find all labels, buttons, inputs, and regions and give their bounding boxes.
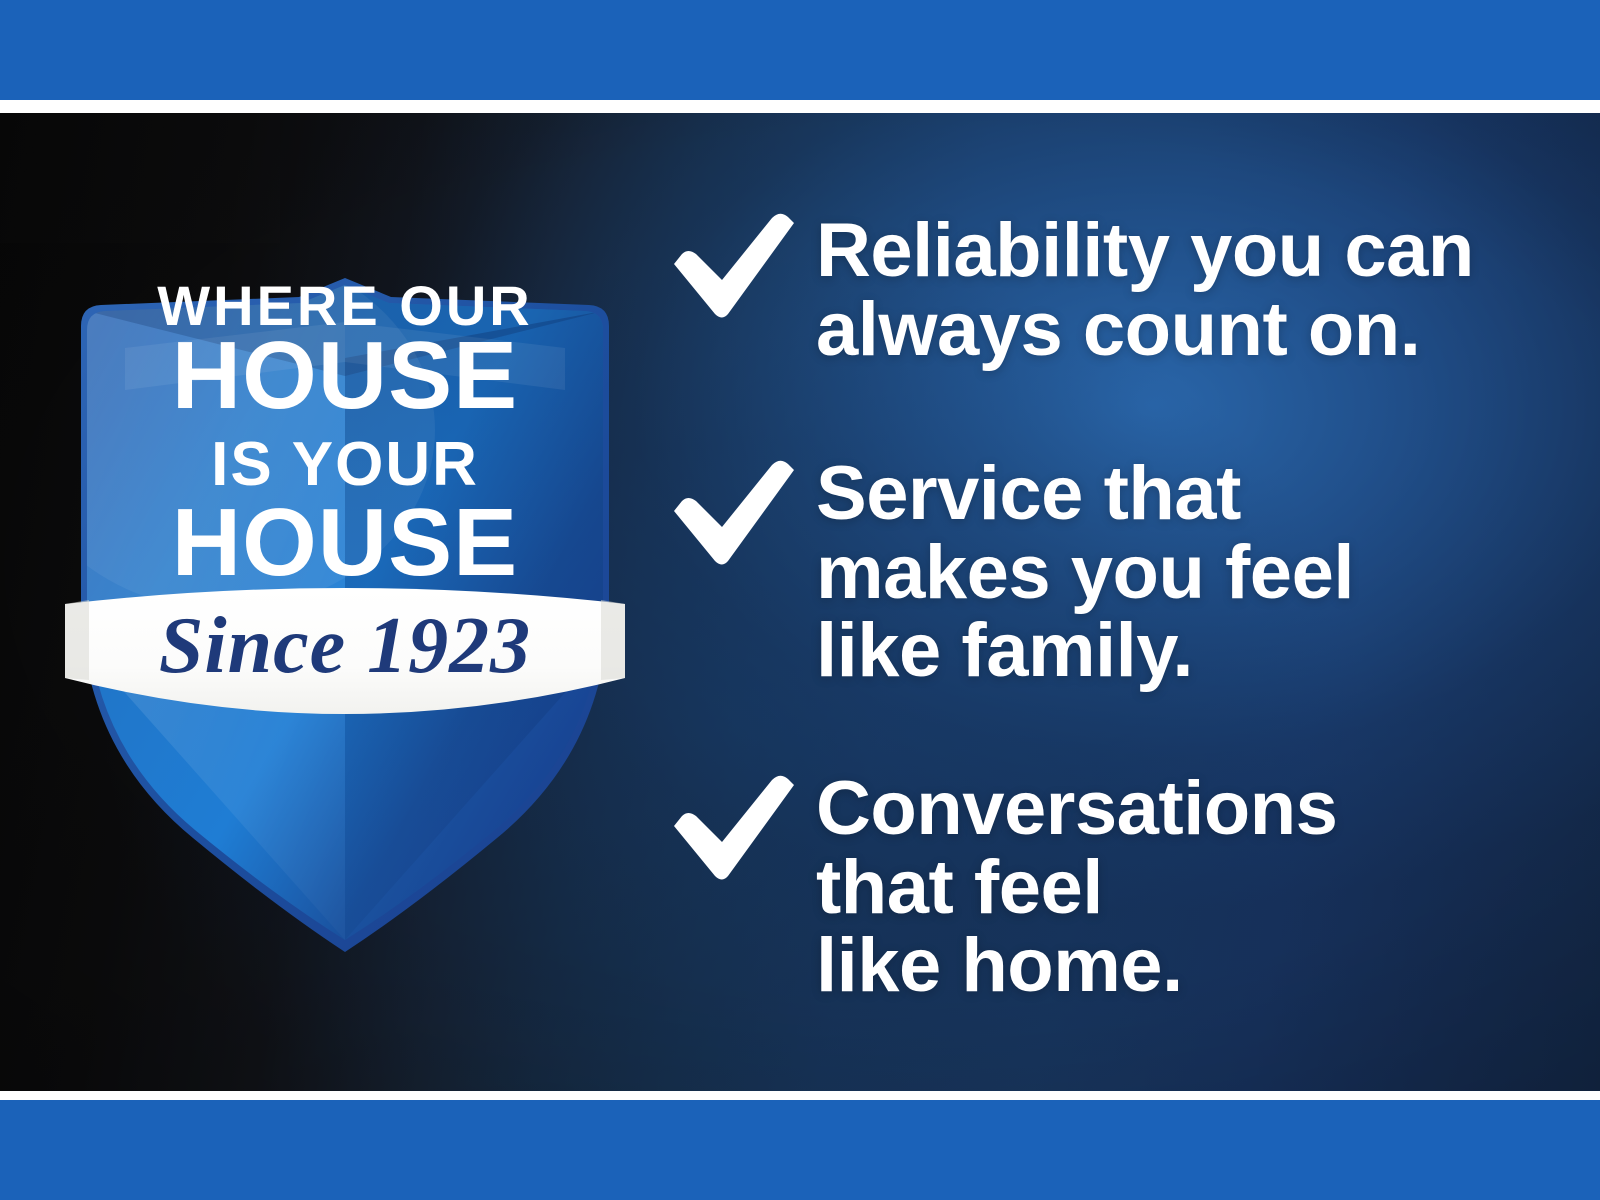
bottom-brand-bar	[0, 1100, 1600, 1200]
shield-ribbon-text: Since 1923	[159, 602, 531, 690]
list-item-label: Conversations that feel like home.	[816, 768, 1560, 1006]
checkmark-icon	[660, 453, 800, 573]
shield-line-4: HOUSE	[172, 489, 518, 596]
list-item-label: Reliability you can always count on.	[816, 206, 1560, 369]
list-item: Conversations that feel like home.	[660, 768, 1560, 1006]
company-shield-logo: WHERE OUR HOUSE IS YOUR HOUSE Since 1923	[55, 180, 635, 970]
list-item: Service that makes you feel like family.	[660, 453, 1560, 691]
top-brand-bar	[0, 0, 1600, 100]
shield-wordmark: WHERE OUR HOUSE IS YOUR HOUSE	[157, 274, 532, 596]
list-item-label: Service that makes you feel like family.	[816, 453, 1560, 691]
shield-line-2: HOUSE	[172, 322, 518, 429]
shield-ribbon-shadow-left	[65, 600, 89, 680]
checkmark-icon	[660, 768, 800, 888]
promo-banner: WHERE OUR HOUSE IS YOUR HOUSE Since 1923…	[0, 0, 1600, 1200]
value-proposition-list: Reliability you can always count on. Ser…	[660, 113, 1560, 1091]
shield-ribbon-shadow-right	[601, 600, 625, 680]
checkmark-icon	[660, 206, 800, 326]
list-item: Reliability you can always count on.	[660, 206, 1560, 369]
